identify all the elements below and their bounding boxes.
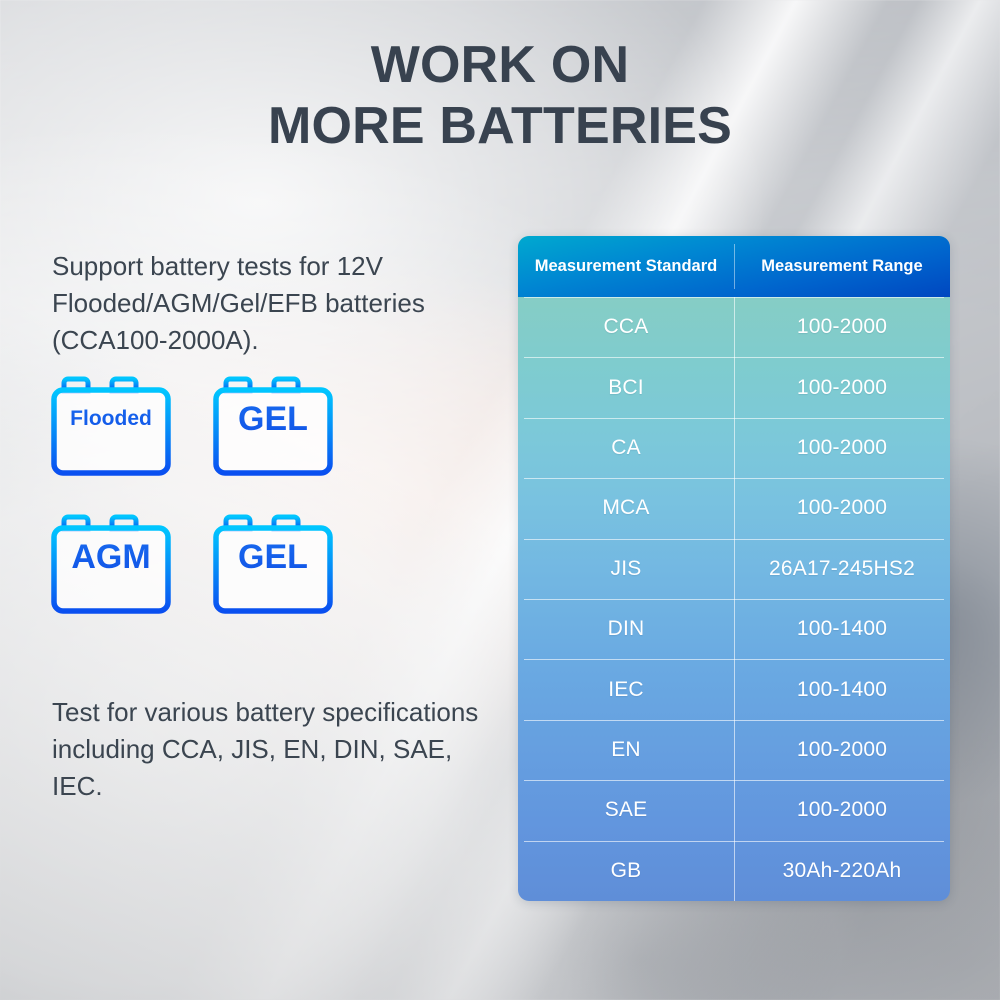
table-row: CCA 100-2000: [518, 297, 950, 357]
cell-range: 100-2000: [734, 478, 950, 538]
cell-standard: IEC: [518, 659, 734, 719]
cell-standard: CA: [518, 418, 734, 478]
table-row: MCA 100-2000: [518, 478, 950, 538]
battery-type-gel-2: GEL: [212, 503, 342, 623]
cell-standard: GB: [518, 841, 734, 901]
measurement-spec-table: Measurement Standard Measurement Range C…: [518, 236, 950, 901]
page-title: WORK ON MORE BATTERIES: [0, 38, 1000, 154]
battery-icon: [212, 503, 342, 618]
table-row: SAE 100-2000: [518, 780, 950, 840]
battery-type-icon-grid: Flooded GEL: [50, 365, 350, 633]
support-description-paragraph: Support battery tests for 12V Flooded/AG…: [52, 248, 502, 359]
left-content-column: Support battery tests for 12V Flooded/AG…: [52, 222, 502, 385]
table-row: EN 100-2000: [518, 720, 950, 780]
cell-range: 100-2000: [734, 357, 950, 417]
cell-range: 100-1400: [734, 659, 950, 719]
cell-standard: JIS: [518, 539, 734, 599]
cell-standard: EN: [518, 720, 734, 780]
table-header-row: Measurement Standard Measurement Range: [518, 236, 950, 297]
table-row: JIS 26A17-245HS2: [518, 539, 950, 599]
cell-standard: SAE: [518, 780, 734, 840]
battery-type-flooded: Flooded: [50, 365, 180, 485]
cell-range: 100-1400: [734, 599, 950, 659]
battery-icon: [50, 503, 180, 618]
cell-range: 100-2000: [734, 780, 950, 840]
battery-type-agm: AGM: [50, 503, 180, 623]
battery-type-gel-1: GEL: [212, 365, 342, 485]
cell-standard: CCA: [518, 297, 734, 357]
cell-range: 100-2000: [734, 720, 950, 780]
cell-range: 100-2000: [734, 297, 950, 357]
battery-icon: [50, 365, 180, 480]
cell-range: 30Ah-220Ah: [734, 841, 950, 901]
table-header-range: Measurement Range: [734, 236, 950, 297]
table-row: IEC 100-1400: [518, 659, 950, 719]
table-row: GB 30Ah-220Ah: [518, 841, 950, 901]
cell-standard: DIN: [518, 599, 734, 659]
cell-standard: MCA: [518, 478, 734, 538]
table-header-standard: Measurement Standard: [518, 236, 734, 297]
cell-standard: BCI: [518, 357, 734, 417]
marketing-slide: WORK ON MORE BATTERIES Support battery t…: [0, 0, 1000, 1000]
table-row: DIN 100-1400: [518, 599, 950, 659]
table-row: CA 100-2000: [518, 418, 950, 478]
table-row: BCI 100-2000: [518, 357, 950, 417]
cell-range: 26A17-245HS2: [734, 539, 950, 599]
battery-icon: [212, 365, 342, 480]
page-title-line-1: WORK ON: [0, 38, 1000, 93]
page-title-line-2: MORE BATTERIES: [0, 99, 1000, 154]
specifications-description-paragraph: Test for various battery specifications …: [52, 694, 482, 805]
cell-range: 100-2000: [734, 418, 950, 478]
